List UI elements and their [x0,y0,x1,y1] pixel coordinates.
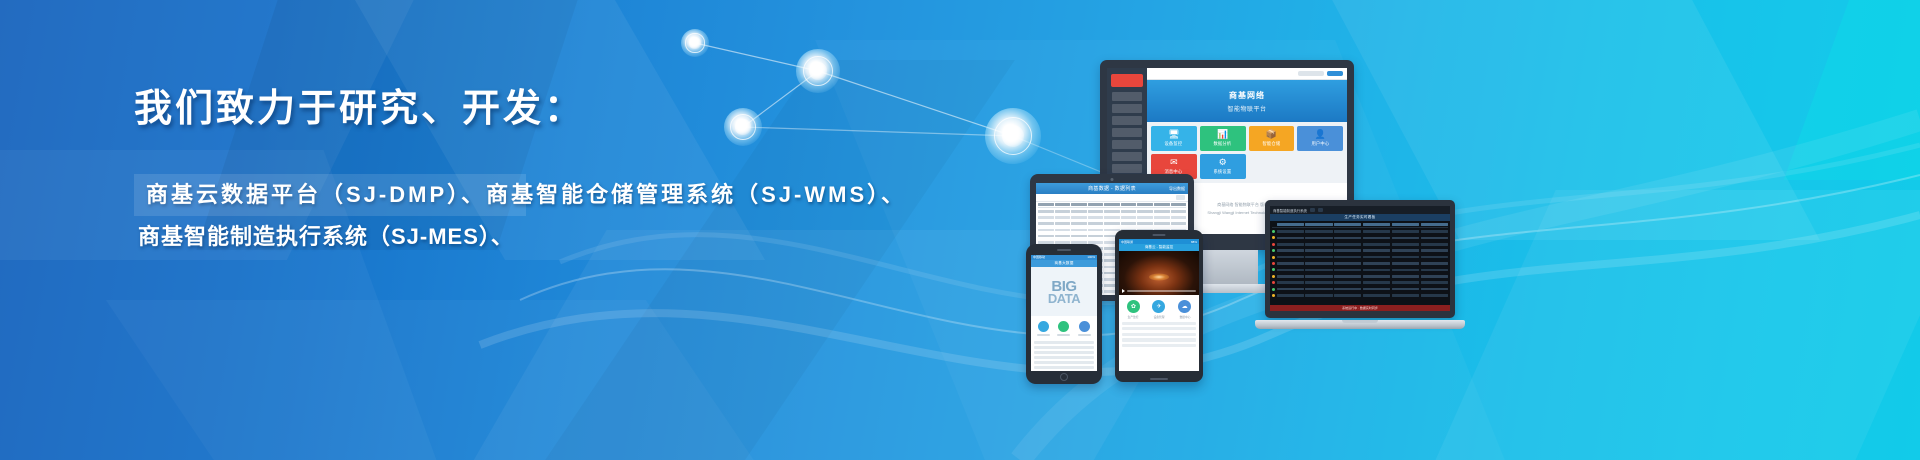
hero-subtitle: 智能物联平台 [1227,104,1266,113]
header-cell [1334,223,1361,226]
dashboard-tile[interactable]: 📊 数据分析 [1200,126,1246,151]
window-title: 商基智能制造执行系统 [1273,208,1307,213]
table-cell [1421,237,1448,240]
table-cell [1277,243,1304,246]
topbar-account-button[interactable] [1327,71,1343,76]
table-cell [1154,216,1170,219]
box-icon: 📦 [1266,130,1277,139]
table-title: 生产任务实时看板 [1344,215,1375,220]
laptop-status-bar: 系统运行中 · 数据实时同步 [1270,305,1450,311]
list-item[interactable] [1034,351,1094,354]
iphone-navbar: 商基大数据 [1031,260,1097,267]
table-cell [1277,275,1304,278]
table-cell [1305,237,1332,240]
table-cell [1277,281,1304,284]
table-cell [1088,229,1104,232]
status-dot [1272,294,1275,297]
table-cell [1104,210,1120,213]
table-cell [1137,222,1153,225]
status-dot [1272,249,1275,252]
icon-label [1037,334,1050,336]
tablet-titlebar: 商基数据 - 数据列表 导出数据 [1036,183,1188,194]
laptop-table-title: 生产任务实时看板 [1270,214,1450,221]
tablet-action-label[interactable]: 导出数据 [1169,186,1185,192]
monitor-icon: 🖥 [1168,130,1179,139]
table-cell [1071,235,1087,238]
media-flare [1149,273,1169,280]
battery-label: 100% [1087,255,1095,259]
sidebar-item[interactable] [1112,140,1142,149]
report-icon [1079,321,1090,332]
laptop-lid: 商基智能制造执行系统 生产任务实时看板 [1265,200,1455,318]
android-screen: 中国联通 88% 商基云 - 智能监控 ✿ 生产监控 [1119,239,1199,371]
list-item[interactable] [1034,341,1094,344]
table-cell [1392,269,1419,272]
gear-icon: ⚙ [1219,158,1227,167]
bigdata-graphic: BIG DATA [1048,279,1080,305]
status-text: 系统运行中 · 数据实时同步 [1342,306,1378,310]
header-cell [1363,223,1390,226]
user-icon: 👤 [1315,130,1326,139]
table-cell [1277,269,1304,272]
list-item[interactable] [1122,344,1196,347]
table-cell [1277,256,1304,259]
iphone-screen: 中国移动 100% 商基大数据 BIG DATA [1031,255,1097,371]
status-dot [1272,268,1275,271]
table-cell [1334,243,1361,246]
app-icon-item[interactable] [1055,321,1074,336]
icon-label [1057,334,1070,336]
table-cell [1305,256,1332,259]
laptop-base [1255,320,1465,329]
app-icon-item[interactable] [1034,321,1053,336]
status-dot [1272,275,1275,278]
table-cell [1392,243,1419,246]
table-cell [1055,222,1071,225]
table-cell [1334,294,1361,297]
hero-banner: 我们致力于研究、开发： 商基云数据平台（SJ-DMP）、商基智能仓储管理系统（S… [0,0,1920,460]
table-cell [1055,210,1071,213]
topbar-search-input[interactable] [1298,71,1324,76]
header-cell [1137,203,1153,206]
table-cell [1305,281,1332,284]
home-button[interactable] [1060,373,1068,381]
app-icon-item[interactable] [1075,321,1094,336]
table-cell [1363,237,1390,240]
status-dot [1272,288,1275,291]
play-icon[interactable] [1122,289,1125,293]
table-cell [1421,230,1448,233]
chart-icon: 📊 [1217,130,1228,139]
dashboard-tile[interactable]: 🖥 设备监控 [1151,126,1197,151]
table-cell [1121,210,1137,213]
table-cell [1104,216,1120,219]
carrier-label: 中国移动 [1033,255,1045,259]
laptop-window-titlebar: 商基智能制造执行系统 [1270,206,1450,214]
table-cell [1305,269,1332,272]
subtitle-highlight-plate [134,174,526,216]
list-item[interactable] [1034,346,1094,349]
table-cell [1334,275,1361,278]
status-dot [1272,230,1275,233]
tablet-title: 商基数据 - 数据列表 [1088,185,1136,192]
table-cell [1121,222,1137,225]
android-handset: 中国联通 88% 商基云 - 智能监控 ✿ 生产监控 [1115,230,1203,382]
android-list [1119,322,1199,350]
table-cell [1421,294,1448,297]
player-controls[interactable] [1119,289,1199,293]
status-dot [1272,236,1275,239]
list-item[interactable] [1122,333,1196,336]
list-item[interactable] [1034,366,1094,369]
mail-icon: ✉ [1170,158,1178,167]
table-cell [1088,210,1104,213]
table-cell [1277,262,1304,265]
header-cell [1038,203,1054,206]
table-cell [1363,269,1390,272]
media-player[interactable] [1119,251,1199,295]
icon-label: 设备管理 [1154,315,1165,319]
dashboard-tile[interactable]: ⚙ 系统设置 [1200,154,1246,179]
table-cell [1088,216,1104,219]
network-node-icon [796,49,840,93]
dashboard-logo [1111,74,1143,87]
table-cell [1038,222,1054,225]
sidebar-item[interactable] [1112,116,1142,125]
table-cell [1305,294,1332,297]
iphone-handset: 中国移动 100% 商基大数据 BIG DATA [1026,244,1102,384]
table-cell [1363,281,1390,284]
data-icon [1038,321,1049,332]
header-cell [1421,223,1448,226]
dashboard-topbar [1147,68,1347,80]
table-cell [1421,281,1448,284]
tile-label: 系统设置 [1214,169,1232,175]
table-cell [1363,243,1390,246]
banner-subtitle: 商基云数据平台（SJ-DMP）、商基智能仓储管理系统（SJ-WMS）、 商基智能… [134,174,954,258]
header-cell [1104,203,1120,206]
toolbar-button[interactable] [1176,195,1185,200]
sidebar-item[interactable] [1112,104,1142,113]
table-cell [1171,210,1187,213]
table-cell [1363,294,1390,297]
table-cell [1334,256,1361,259]
table-cell [1137,216,1153,219]
table-cell [1392,230,1419,233]
table-cell [1363,262,1390,265]
table-cell [1421,269,1448,272]
camera-icon [1111,178,1114,181]
battery-label: 88% [1191,240,1197,244]
compass-icon: ✈ [1152,300,1165,313]
table-cell [1055,229,1071,232]
table-cell [1055,235,1071,238]
table-cell [1305,230,1332,233]
dashboard-tile[interactable]: 📦 智能仓储 [1249,126,1295,151]
laptop-screen: 商基智能制造执行系统 生产任务实时看板 [1270,206,1450,311]
home-indicator[interactable] [1150,378,1168,380]
header-cell [1277,223,1304,226]
table-cell [1137,210,1153,213]
nav-title: 商基云 - 智能监控 [1145,245,1173,250]
table-cell [1363,275,1390,278]
table-cell [1305,249,1332,252]
table-cell [1363,230,1390,233]
table-cell [1277,294,1304,297]
table-cell [1277,288,1304,291]
iphone-hero: BIG DATA [1031,267,1097,317]
icon-label: 数据中心 [1179,315,1190,319]
status-dot [1272,223,1275,226]
laptop-computer: 商基智能制造执行系统 生产任务实时看板 [1255,200,1465,346]
table-cell [1334,288,1361,291]
table-cell [1305,288,1332,291]
table-cell [1305,243,1332,246]
status-dot [1272,243,1275,246]
table-cell [1392,237,1419,240]
table-cell [1421,262,1448,265]
table-cell [1421,249,1448,252]
table-cell [1088,235,1104,238]
carrier-label: 中国联通 [1121,240,1133,244]
table-cell [1154,222,1170,225]
table-cell [1334,237,1361,240]
table-cell [1171,216,1187,219]
status-dot [1272,256,1275,259]
dashboard-tile[interactable]: 👤 用户中心 [1297,126,1343,151]
table-cell [1088,222,1104,225]
icon-label: 生产监控 [1128,315,1139,319]
table-cell [1071,210,1087,213]
table-cell [1038,235,1054,238]
table-cell [1392,294,1419,297]
table-cell [1363,256,1390,259]
table-cell [1071,216,1087,219]
device-cluster: 商基网络 智能物联平台 🖥 设备监控 📊 数据分析 [1010,44,1510,354]
list-item[interactable] [1034,356,1094,359]
header-cell [1154,203,1170,206]
tile-label: 数据分析 [1214,141,1232,147]
table-cell [1038,229,1054,232]
list-item[interactable] [1122,338,1196,341]
sidebar-item[interactable] [1112,92,1142,101]
app-icon-item[interactable]: ✈ 设备管理 [1147,300,1172,319]
table-cell [1071,222,1087,225]
stats-icon [1058,321,1069,332]
table-cell [1392,288,1419,291]
list-item[interactable] [1122,322,1196,325]
leaf-icon: ✿ [1127,300,1140,313]
table-cell [1334,269,1361,272]
header-cell [1121,203,1137,206]
header-cell [1055,203,1071,206]
table-cell [1421,275,1448,278]
list-item[interactable] [1122,327,1196,330]
subtitle-line-2: 商基智能制造执行系统（SJ-MES）、 [134,216,954,258]
cloud-icon: ☁ [1178,300,1191,313]
table-cell [1305,275,1332,278]
table-cell [1055,216,1071,219]
header-cell [1088,203,1104,206]
table-cell [1392,256,1419,259]
table-cell [1392,281,1419,284]
table-cell [1305,262,1332,265]
table-row[interactable] [1272,292,1448,298]
laptop-data-table [1270,221,1450,305]
tile-label: 设备监控 [1165,141,1183,147]
table-cell [1121,216,1137,219]
hero-title: 商基网络 [1229,90,1265,101]
window-control[interactable] [1310,208,1315,212]
progress-bar[interactable] [1127,290,1196,292]
table-cell [1038,210,1054,213]
table-cell [1421,288,1448,291]
speaker-icon [1057,249,1071,251]
header-cell [1305,223,1332,226]
android-icon-grid: ✿ 生产监控 ✈ 设备管理 ☁ 数据中心 [1119,295,1199,322]
table-cell [1277,230,1304,233]
table-cell [1421,243,1448,246]
sidebar-item[interactable] [1112,164,1142,173]
iphone-icon-grid [1031,316,1097,341]
nav-title: 商基大数据 [1055,261,1074,266]
banner-copy: 我们致力于研究、开发： 商基云数据平台（SJ-DMP）、商基智能仓储管理系统（S… [134,88,954,258]
icon-label [1078,334,1091,336]
table-cell [1392,275,1419,278]
dashboard-hero: 商基网络 智能物联平台 [1147,80,1347,122]
header-cell [1071,203,1087,206]
table-cell [1277,237,1304,240]
table-cell [1071,229,1087,232]
app-icon-item[interactable]: ☁ 数据中心 [1172,300,1197,319]
table-cell [1334,249,1361,252]
status-dot [1272,262,1275,265]
tablet-toolbar [1036,194,1188,202]
table-cell [1154,210,1170,213]
table-cell [1104,222,1120,225]
table-cell [1334,230,1361,233]
laptop-notch [1342,320,1378,323]
header-cell [1392,223,1419,226]
network-node-icon [681,29,709,57]
table-cell [1334,281,1361,284]
list-item[interactable] [1034,361,1094,364]
sidebar-item[interactable] [1112,128,1142,137]
table-cell [1363,249,1390,252]
table-cell [1038,216,1054,219]
table-cell [1392,249,1419,252]
header-cell [1171,203,1187,206]
table-cell [1334,262,1361,265]
speaker-icon [1153,234,1166,236]
table-cell [1421,256,1448,259]
window-control[interactable] [1318,208,1323,212]
tile-label: 智能仓储 [1262,141,1280,147]
table-cell [1171,222,1187,225]
banner-headline: 我们致力于研究、开发： [134,88,954,132]
table-cell [1363,288,1390,291]
tile-label: 用户中心 [1311,141,1329,147]
imac-stand [1196,250,1258,286]
table-cell [1277,249,1304,252]
table-cell [1392,262,1419,265]
status-dot [1272,281,1275,284]
app-icon-item[interactable]: ✿ 生产监控 [1121,300,1146,319]
iphone-list [1031,341,1097,371]
android-navbar: 商基云 - 智能监控 [1119,244,1199,251]
sidebar-item[interactable] [1112,152,1142,161]
bigdata-text-2: DATA [1048,292,1080,305]
